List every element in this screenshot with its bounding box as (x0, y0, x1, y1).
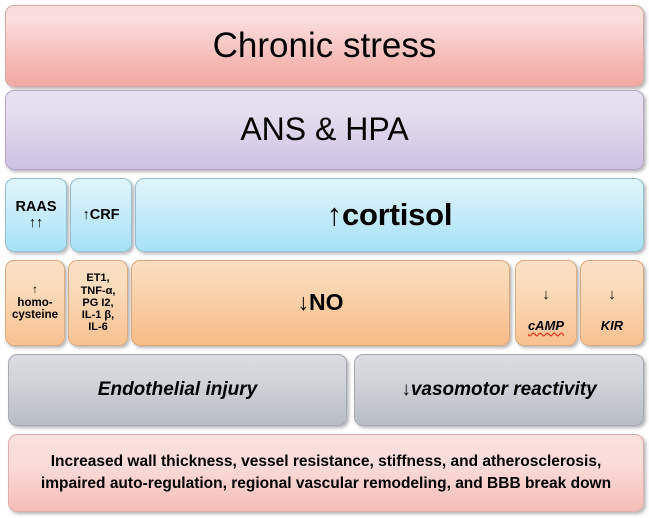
kir-down-arrow-icon: ↓ (585, 287, 639, 304)
box-raas-label: RAAS ↑↑ (6, 199, 66, 231)
box-cytokines-label: ET1, TNF-α, PG I2, IL-1 β, IL-6 (69, 272, 127, 334)
box-outcomes-label: Increased wall thickness, vessel resista… (9, 451, 643, 496)
box-camp-label: cAMP (528, 318, 564, 333)
box-crf[interactable]: ↑CRF (70, 178, 132, 252)
box-raas[interactable]: RAAS ↑↑ (5, 178, 67, 252)
box-camp[interactable]: ↓ cAMP (515, 260, 577, 346)
box-endothelial-injury-label: Endothelial injury (9, 379, 346, 400)
box-camp-content: ↓ cAMP (516, 273, 576, 333)
box-cortisol-label: ↑cortisol (136, 198, 643, 233)
box-endothelial-injury[interactable]: Endothelial injury (8, 354, 347, 426)
box-vasomotor-reactivity-label: ↓vasomotor reactivity (355, 379, 643, 400)
flow-diagram: Chronic stress ANS & HPA RAAS ↑↑ ↑CRF ↑c… (0, 0, 649, 518)
box-chronic-stress[interactable]: Chronic stress (5, 5, 644, 87)
box-kir[interactable]: ↓ KIR (580, 260, 644, 346)
box-homocysteine-label: ↑ homo- cysteine (6, 284, 64, 323)
box-cortisol[interactable]: ↑cortisol (135, 178, 644, 252)
box-outcomes[interactable]: Increased wall thickness, vessel resista… (8, 434, 644, 512)
camp-down-arrow-icon: ↓ (520, 287, 572, 304)
box-vasomotor-reactivity[interactable]: ↓vasomotor reactivity (354, 354, 644, 426)
box-ans-hpa[interactable]: ANS & HPA (5, 90, 644, 170)
box-chronic-stress-label: Chronic stress (6, 26, 643, 65)
box-kir-content: ↓ KIR (581, 273, 643, 333)
box-nitric-oxide-label: ↓NO (132, 290, 509, 316)
box-cytokines[interactable]: ET1, TNF-α, PG I2, IL-1 β, IL-6 (68, 260, 128, 346)
box-nitric-oxide[interactable]: ↓NO (131, 260, 510, 346)
box-crf-label: ↑CRF (71, 207, 131, 223)
box-ans-hpa-label: ANS & HPA (6, 112, 643, 148)
box-homocysteine[interactable]: ↑ homo- cysteine (5, 260, 65, 346)
box-kir-label: KIR (601, 318, 623, 333)
